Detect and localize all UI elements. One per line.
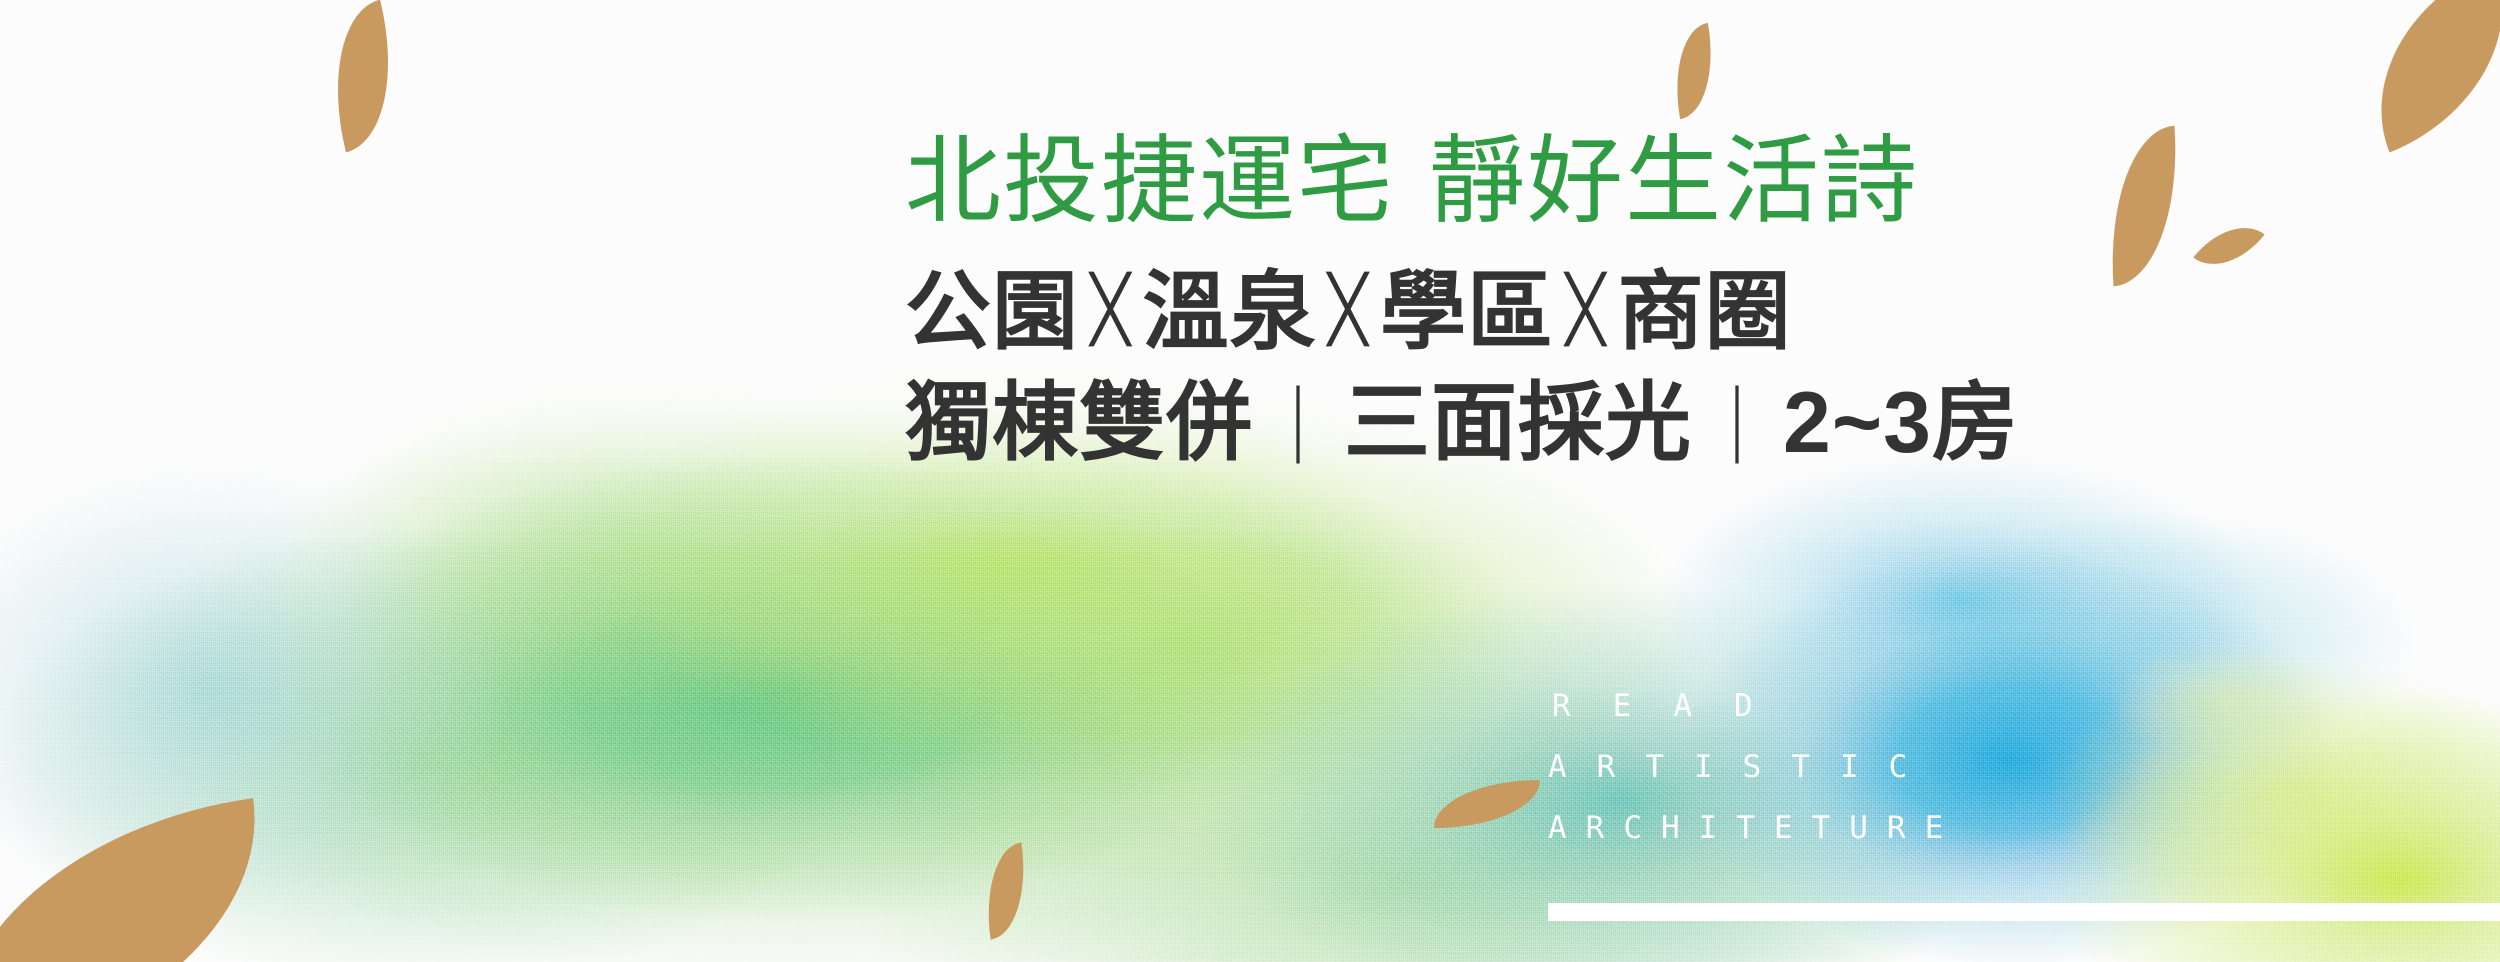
headline-part1: 北投捷運宅 [905,128,1395,235]
headline-block: 北投捷運宅靜好生活詩 公園╳溫泉╳學區╳商圈 獨棟雙併｜三面採光｜2~3房 [905,130,2115,475]
headline-spec-line: 獨棟雙併｜三面採光｜2~3房 [905,371,2115,476]
feature-item-park: 公園 [905,264,1079,360]
headline-feature-line: 公園╳溫泉╳學區╳商圈 [905,260,2115,365]
english-line-artistic: ARTISTIC [1548,749,1962,785]
separator-cross-icon: ╳ [1554,270,1618,348]
separator-pipe-icon: ｜ [1253,380,1344,475]
english-line-read: READ [1548,688,1962,724]
spec-item-rooms: 2~3房 [1783,375,2019,471]
spec-item-lighting: 三面採光 [1344,375,1692,471]
english-line-architeture: ARCHITETURE [1548,810,1962,846]
feature-item-hotspring: 溫泉 [1143,264,1317,360]
separator-pipe-icon: ｜ [1692,380,1783,475]
english-wordmark: READ ARTISTIC ARCHITETURE [1548,688,1962,846]
separator-cross-icon: ╳ [1079,270,1143,348]
promo-banner: 北投捷運宅靜好生活詩 公園╳溫泉╳學區╳商圈 獨棟雙併｜三面採光｜2~3房 RE… [0,0,2500,962]
feature-item-shopping: 商圈 [1618,264,1792,360]
spec-item-detached: 獨棟雙併 [905,375,1253,471]
headline-part2: 靜好生活詩 [1429,128,1919,235]
headline-primary-line: 北投捷運宅靜好生活詩 [905,130,2115,234]
feature-item-school: 學區 [1380,264,1554,360]
separator-cross-icon: ╳ [1317,270,1381,348]
white-underline-rule [1548,903,2500,921]
